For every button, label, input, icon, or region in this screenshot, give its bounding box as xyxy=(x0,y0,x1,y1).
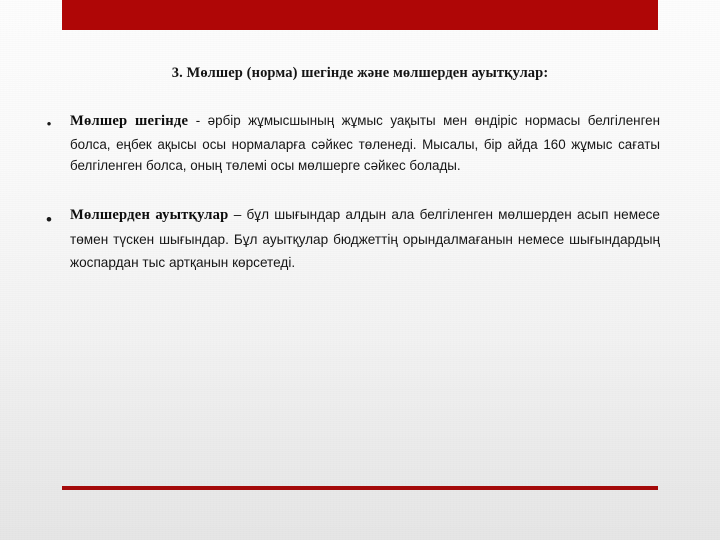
slide-canvas: 3. Мөлшер (норма) шегінде және мөлшерден… xyxy=(0,0,720,540)
page-title: 3. Мөлшер (норма) шегінде және мөлшерден… xyxy=(62,64,658,82)
bullet-dot-icon: • xyxy=(44,117,54,130)
bullet-paragraph: Мөлшер шегінде - әрбір жұмысшының жұмыс … xyxy=(70,110,660,177)
list-item: • Мөлшер шегінде - әрбір жұмысшының жұмы… xyxy=(36,110,660,177)
top-red-banner xyxy=(62,0,658,30)
content-body: • Мөлшер шегінде - әрбір жұмысшының жұмы… xyxy=(36,110,660,274)
bullet-lead-term: Мөлшерден ауытқулар xyxy=(70,207,229,223)
bullet-lead-term: Мөлшер шегінде xyxy=(70,113,188,129)
bullet-paragraph: Мөлшерден ауытқулар – бұл шығындар алдын… xyxy=(70,203,660,274)
list-item: • Мөлшерден ауытқулар – бұл шығындар алд… xyxy=(36,203,660,274)
bottom-red-rule xyxy=(62,486,658,490)
bullet-dot-icon: • xyxy=(44,211,54,228)
